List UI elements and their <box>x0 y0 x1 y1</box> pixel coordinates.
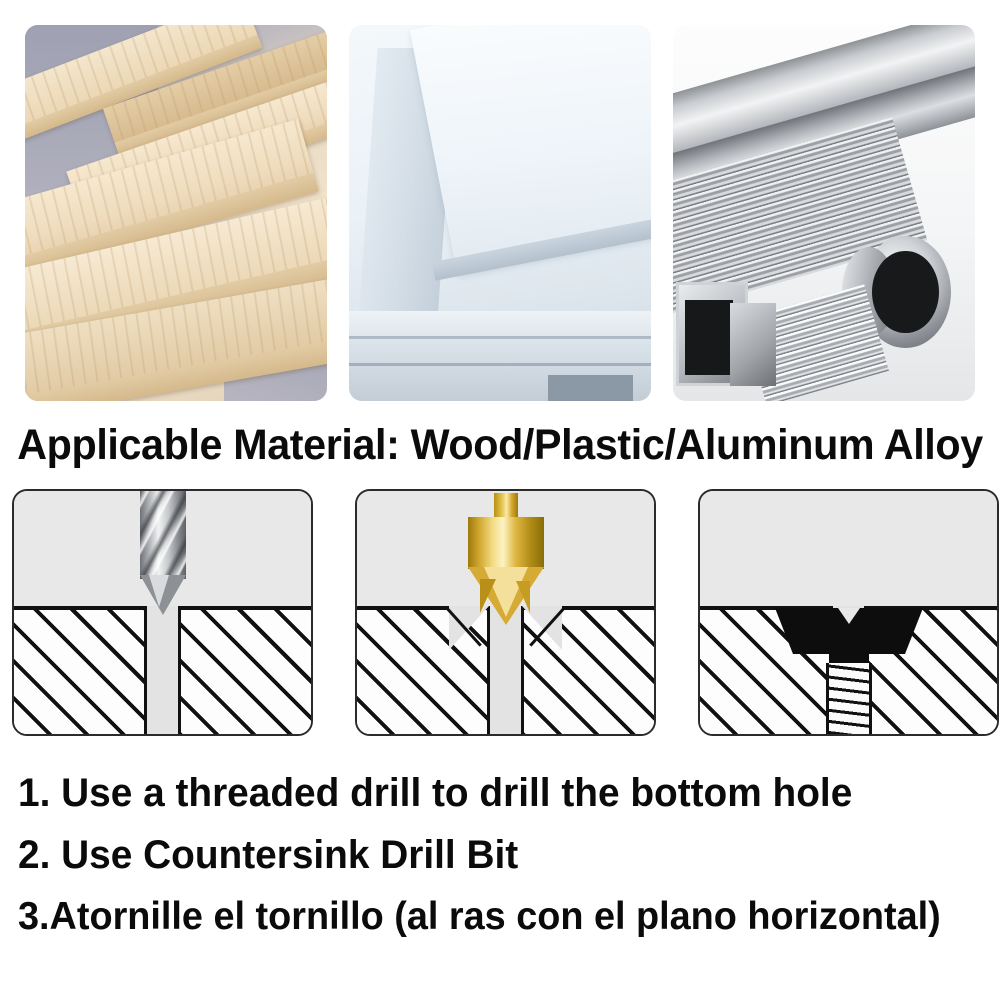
hatched-material-right <box>178 606 311 736</box>
seated-screw-diagram <box>698 489 999 736</box>
pipe-bore <box>872 251 938 334</box>
countersink-body <box>468 517 544 569</box>
wood-boards-photo <box>25 25 327 401</box>
page-title: Applicable Material: Wood/Plastic/Alumin… <box>20 414 980 476</box>
drilled-bore <box>487 606 524 734</box>
aluminum-square-tube <box>730 303 775 386</box>
plastic-sheet-notch <box>548 375 633 401</box>
instruction-step-1: 1. Use a threaded drill to drill the bot… <box>18 762 955 824</box>
product-infographic: Applicable Material: Wood/Plastic/Alumin… <box>0 0 1000 1000</box>
instruction-step-3: 3.Atornille el tornillo (al ras con el p… <box>18 886 955 948</box>
countersink-flute <box>480 579 496 613</box>
plastic-sheets-photo <box>349 25 651 401</box>
drill-tip-highlight <box>149 575 169 607</box>
countersink-diagram <box>355 489 656 736</box>
countersink-flute <box>516 581 530 613</box>
screw-threaded-shank <box>826 663 872 734</box>
drill-flutes <box>140 489 186 579</box>
drilled-bore <box>144 606 181 734</box>
square-tube-bore <box>685 300 733 375</box>
aluminum-profiles-photo <box>673 25 975 401</box>
countersink-hex-shank <box>494 493 518 519</box>
countersink-drill-bit-icon <box>460 493 552 623</box>
instruction-step-list: 1. Use a threaded drill to drill the bot… <box>18 762 984 948</box>
pilot-hole-diagram <box>12 489 313 736</box>
twist-drill-bit-icon <box>140 489 186 615</box>
instruction-step-2: 2. Use Countersink Drill Bit <box>18 824 955 886</box>
material-photo-row <box>25 25 975 401</box>
screw-drive-notch <box>838 608 860 624</box>
air-zone <box>700 491 997 606</box>
hatched-material-left <box>14 606 147 736</box>
process-diagram-row <box>12 489 988 732</box>
